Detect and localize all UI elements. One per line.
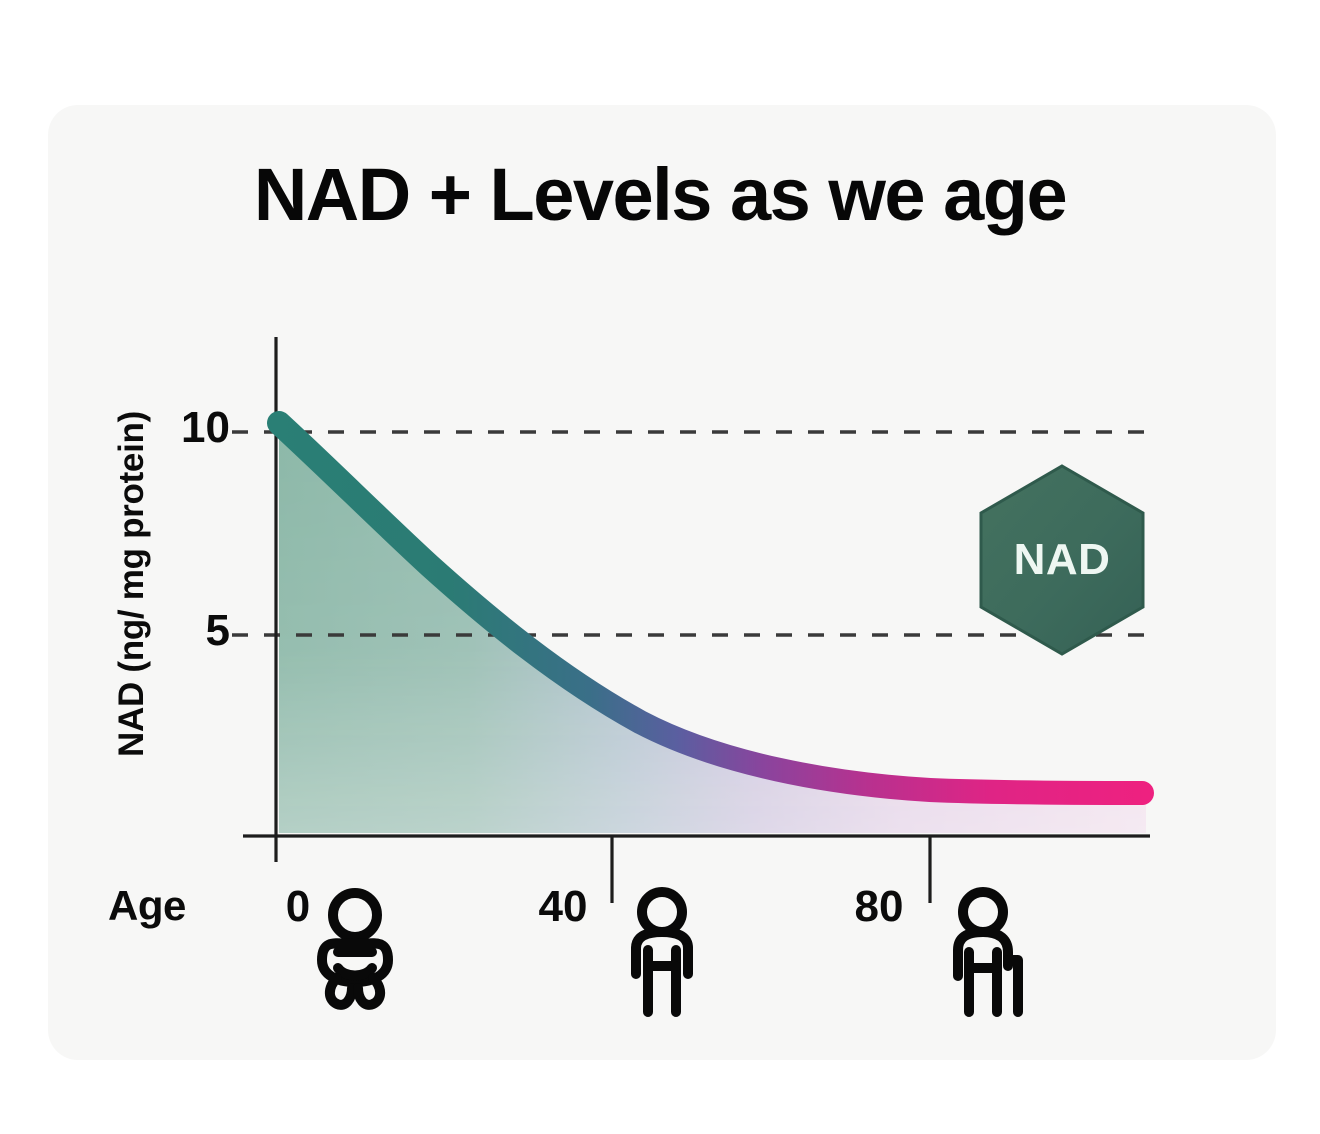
chart-screenshot: NAD + Levels as we age xyxy=(0,0,1320,1134)
y-tick-label-5: 5 xyxy=(120,609,230,653)
y-tick-label-10: 10 xyxy=(120,406,230,450)
elderly-person-with-cane-icon xyxy=(958,892,1018,1012)
hexagon-icon xyxy=(981,466,1143,654)
x-tick-label-40: 40 xyxy=(518,885,608,929)
chart-plot-area xyxy=(0,0,1320,1134)
nad-badge[interactable] xyxy=(981,466,1143,654)
adult-person-icon xyxy=(636,892,688,1012)
x-tick-label-80: 80 xyxy=(834,885,924,929)
x-axis-title: Age xyxy=(108,885,186,927)
x-tick-label-0: 0 xyxy=(258,885,338,929)
